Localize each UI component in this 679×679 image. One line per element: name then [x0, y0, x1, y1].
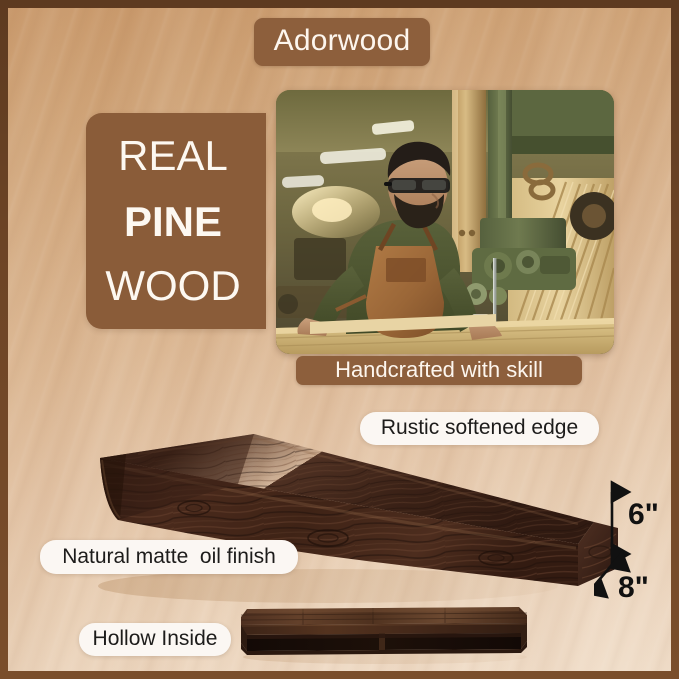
headline-line-real: REAL — [86, 135, 260, 177]
caption-oil-finish-label: Natural matte oil finish — [62, 546, 276, 569]
headline-line-pine: PINE — [86, 201, 260, 243]
caption-oil-finish-badge: Natural matte oil finish — [40, 540, 298, 574]
headline-block: REAL PINE WOOD — [86, 113, 266, 329]
wood-background-panel: Adorwood REAL PINE WOOD — [8, 8, 671, 671]
caption-hollow-inside-label: Hollow Inside — [93, 628, 218, 651]
caption-rustic-edge-label: Rustic softened edge — [381, 417, 578, 440]
hollow-beam-product-render — [233, 603, 533, 665]
caption-hollow-inside-badge: Hollow Inside — [79, 623, 231, 656]
caption-handcrafted-badge: Handcrafted with skill — [296, 356, 582, 385]
dimension-depth-label: 8" — [618, 573, 649, 603]
product-infographic: Adorwood REAL PINE WOOD — [0, 0, 679, 679]
caption-rustic-edge-badge: Rustic softened edge — [360, 412, 599, 445]
dimension-callouts: 6" 8" — [594, 478, 671, 638]
carpenter-at-bandsaw-photo — [276, 90, 614, 354]
brand-badge: Adorwood — [254, 18, 430, 66]
caption-handcrafted-label: Handcrafted with skill — [335, 359, 543, 383]
wood-beam-product-render — [78, 418, 618, 608]
dimension-height-label: 6" — [628, 500, 659, 530]
brand-name: Adorwood — [274, 26, 411, 58]
headline-line-wood: WOOD — [86, 265, 260, 307]
